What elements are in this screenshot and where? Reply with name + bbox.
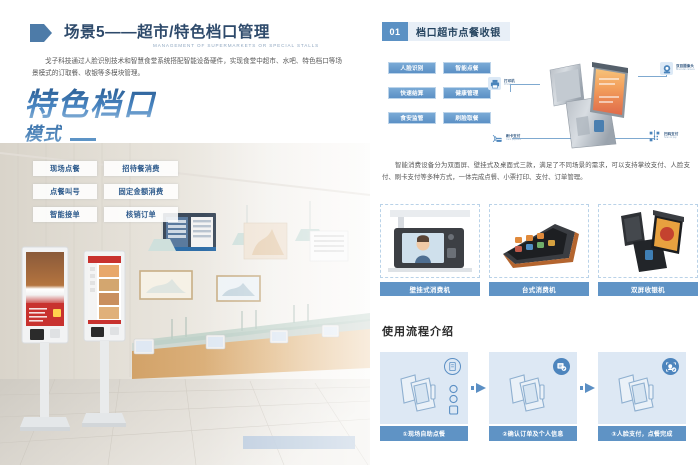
page-title: 场景5——超市/特色档口管理 — [64, 24, 270, 42]
product-card[interactable]: 台式消费机 — [489, 204, 589, 296]
callout-line — [638, 76, 666, 77]
callout-card-payment: 刷卡支付 Card payment — [490, 132, 521, 145]
flow-step[interactable]: ①现场自助点餐 — [380, 352, 468, 441]
arrow-right-badge-icon — [28, 20, 54, 46]
card-payment-icon — [490, 132, 503, 145]
numbered-section-header: 01 档口超市点餐收银 — [382, 22, 510, 41]
feature-tag-list: 现场点餐 招待餐消费 点餐叫号 固定金额消费 智能接单 核销订单 — [33, 161, 178, 222]
headline-dash — [70, 138, 96, 141]
callout-printer-text: 打印机 Printer — [504, 80, 515, 87]
feature-tag[interactable]: 现场点餐 — [33, 161, 97, 176]
face-pay-icon — [662, 358, 679, 375]
feature-tag[interactable]: 智能接单 — [33, 207, 97, 222]
camera-icon — [660, 62, 673, 75]
section-title: 档口超市点餐收银 — [408, 22, 510, 41]
page-root: 场景5——超市/特色档口管理 MANAGEMENT OF SUPERMARKET… — [0, 0, 700, 465]
section-number: 01 — [382, 22, 408, 41]
feature-tag[interactable]: 招待餐消费 — [104, 161, 178, 176]
product-image-desktop — [489, 204, 589, 278]
right-column: 01 档口超市点餐收银 人脸识别 智能点餐 快速结算 健康管理 食安监管 刷脸取… — [370, 0, 700, 465]
flow-section-title: 使用流程介绍 — [382, 323, 454, 339]
feature-pill[interactable]: 人脸识别 — [388, 62, 436, 74]
callout-camera-text: 双目摄像头 Binocular camera — [676, 65, 695, 72]
product-image-dual-screen — [598, 204, 698, 278]
feature-pill[interactable]: 智能点餐 — [443, 62, 491, 74]
headline-line1: 特色档口 — [24, 88, 156, 122]
callout-camera: 双目摄像头 Binocular camera — [660, 62, 695, 75]
callout-label-en: Binocular camera — [676, 69, 695, 71]
left-column: 场景5——超市/特色档口管理 MANAGEMENT OF SUPERMARKET… — [0, 0, 370, 465]
feature-tag[interactable]: 核销订单 — [104, 207, 178, 222]
headline-line2: 模式 — [24, 124, 62, 145]
feature-pill[interactable]: 刷脸取餐 — [443, 112, 491, 124]
headline-line2-row: 模式 — [24, 124, 156, 145]
description-paragraph: 智能消费设备分为双面屏、壁挂式及桌面式三款，满足了不同场景的需求，可以支持掌纹支… — [382, 160, 690, 183]
headline-block: 特色档口 模式 — [24, 88, 156, 145]
feature-pill[interactable]: 食安监管 — [388, 112, 436, 124]
receipt-icon — [444, 358, 461, 375]
callout-qr-scan: 扫码支付 Scan to pay — [648, 130, 678, 143]
product-card[interactable]: 双屏收银机 — [598, 204, 698, 296]
pos-diagram: 打印机 Printer 双目摄像头 Binocular camera — [488, 50, 696, 155]
section-subtitle-en: MANAGEMENT OF SUPERMARKETS OR SPECIAL ST… — [153, 43, 319, 48]
intro-paragraph: 戈子科技通过人脸识别技术和智慧食堂系统搭配智能设备硬件，实现食堂中超市、水吧、特… — [32, 56, 342, 80]
feature-tag[interactable]: 固定金额消费 — [104, 184, 178, 199]
flow-step-illustration — [598, 352, 686, 424]
callout-qr-text: 扫码支付 Scan to pay — [664, 133, 678, 140]
step-side-icons — [448, 384, 459, 416]
flow-step-caption: ②确认订单及个人信息 — [489, 426, 577, 441]
product-caption: 台式消费机 — [489, 282, 589, 296]
callout-label-en: Card payment — [506, 139, 521, 141]
flow-step-illustration — [380, 352, 468, 424]
callout-label-en: Scan to pay — [664, 137, 678, 139]
callout-label-en: Printer — [504, 84, 515, 86]
flow-step-illustration — [489, 352, 577, 424]
feature-pill-list: 人脸识别 智能点餐 快速结算 健康管理 食安监管 刷脸取餐 — [388, 62, 491, 124]
order-confirm-icon — [553, 358, 570, 375]
qr-scan-icon — [648, 130, 661, 143]
product-image-wall-mounted — [380, 204, 480, 278]
product-caption: 双屏收银机 — [598, 282, 698, 296]
product-card[interactable]: 壁挂式消费机 — [380, 204, 480, 296]
feature-tag[interactable]: 点餐叫号 — [33, 184, 97, 199]
flow-step-caption: ①现场自助点餐 — [380, 426, 468, 441]
arrow-right-icon — [468, 352, 489, 424]
callout-card-text: 刷卡支付 Card payment — [506, 135, 521, 142]
section-header-texts: 场景5——超市/特色档口管理 — [64, 24, 270, 42]
flow-step[interactable]: ③人脸支付，点餐完成 — [598, 352, 686, 441]
callout-printer: 打印机 Printer — [488, 77, 515, 90]
flow-step-caption: ③人脸支付，点餐完成 — [598, 426, 686, 441]
arrow-right-icon — [577, 352, 598, 424]
feature-pill[interactable]: 快速结算 — [388, 87, 436, 99]
flow-step-list: ①现场自助点餐 — [380, 352, 686, 441]
product-caption: 壁挂式消费机 — [380, 282, 480, 296]
printer-icon — [488, 77, 501, 90]
product-card-list: 壁挂式消费机 — [380, 204, 698, 296]
feature-pill[interactable]: 健康管理 — [443, 87, 491, 99]
flow-step[interactable]: ②确认订单及个人信息 — [489, 352, 577, 441]
